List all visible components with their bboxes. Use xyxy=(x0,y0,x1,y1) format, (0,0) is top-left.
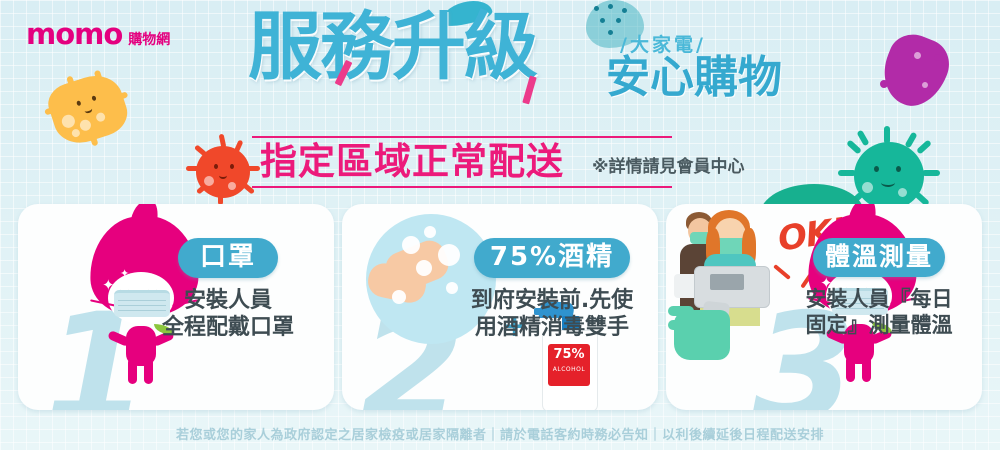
feature-card-2[interactable]: 2 + 75% ALCOHOL 75%酒精 xyxy=(342,204,658,410)
card-2-text-block: 75%酒精 到府安裝前.先使 用酒精消毒雙手 xyxy=(462,238,642,341)
ribbon-rule-top xyxy=(252,136,672,138)
foam-bubble-icon xyxy=(402,236,420,254)
feature-card-3[interactable]: 3 xyxy=(666,204,982,410)
footer-disclaimer: 若您或您的家人為政府認定之居家檢疫或居家隔離者｜請於電話客約時務必告知｜以利後續… xyxy=(0,424,1000,443)
headline-secondary: 安心購物 xyxy=(606,56,782,100)
bottle-label: 75% ALCOHOL xyxy=(548,344,590,386)
foam-bubble-icon xyxy=(438,244,460,266)
feature-card-1[interactable]: 1 ✦ ✦ 口罩 安裝人員 xyxy=(18,204,334,410)
ribbon-rule-bottom xyxy=(252,186,672,188)
card-1-text-block: 口罩 安裝人員 全程配戴口罩 xyxy=(138,238,318,341)
foam-bubble-icon xyxy=(416,260,432,276)
feature-card-list: 1 ✦ ✦ 口罩 安裝人員 xyxy=(18,204,982,410)
card-2-desc-line-1: 到府安裝前.先使 xyxy=(462,287,642,314)
ribbon-title: 指定區域正常配送 xyxy=(260,140,564,184)
foam-bubble-icon xyxy=(392,290,406,304)
germ-purple-icon xyxy=(884,36,960,112)
card-2-badge: 75%酒精 xyxy=(474,238,630,278)
card-1-badge: 口罩 xyxy=(178,238,278,278)
headline-main: 服務升級 xyxy=(248,10,536,84)
card-3-desc-line-2: 固定』測量體溫 xyxy=(784,312,974,338)
headline-block: 服務升級 /大家電/ 安心購物 xyxy=(248,8,848,133)
ribbon-block: 指定區域正常配送 ※詳情請見會員中心 xyxy=(252,136,792,188)
logo-subtitle: 購物網 xyxy=(128,33,170,49)
thermometer-gun-icon xyxy=(668,266,788,382)
card-3-desc-line-1: 安裝人員『每日 xyxy=(784,286,974,312)
foam-bubble-icon xyxy=(424,226,436,238)
card-1-desc-line-1: 安裝人員 xyxy=(138,287,318,314)
momo-logo[interactable]: momo 購物網 xyxy=(26,20,170,49)
ribbon-note: ※詳情請見會員中心 xyxy=(592,152,745,177)
bottle-label-percent: 75% xyxy=(548,344,590,366)
logo-wordmark: momo xyxy=(26,20,122,49)
card-3-badge: 體溫測量 xyxy=(813,238,945,277)
germ-red-icon xyxy=(188,138,258,204)
card-2-desc-line-2: 用酒精消毒雙手 xyxy=(462,314,642,341)
card-3-text-block: 體溫測量 安裝人員『每日 固定』測量體溫 xyxy=(784,238,974,338)
promo-banner: momo 購物網 服務升級 /大家電/ 安心購物 指定區域正常配送 ※詳情請見會… xyxy=(0,0,1000,450)
germ-yellow-icon xyxy=(43,68,134,156)
foam-bubble-icon xyxy=(446,282,458,294)
card-1-desc-line-2: 全程配戴口罩 xyxy=(138,314,318,341)
bottle-label-text: ALCOHOL xyxy=(548,366,590,373)
